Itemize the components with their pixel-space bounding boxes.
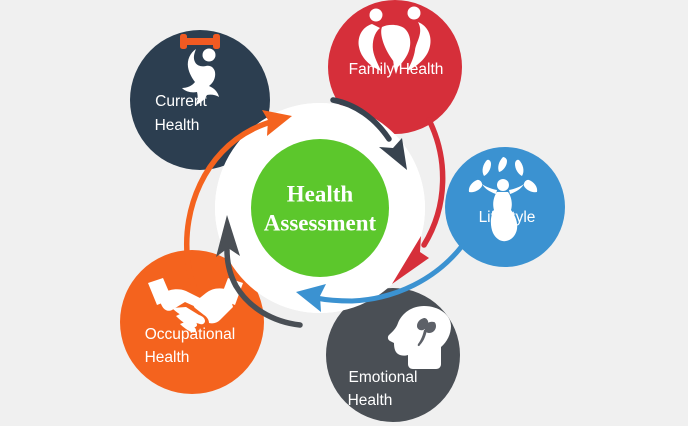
node-occupational-health-label-line1: Occupational (145, 326, 235, 343)
node-emotional-health-label-line2: Health (348, 392, 393, 409)
node-emotional-health-label-line1: Emotional (349, 369, 418, 386)
center-hub-label-line1: Health (287, 181, 354, 206)
node-occupational-health-label-line2: Health (145, 349, 190, 366)
node-family-health-label-line1: Family Health (349, 61, 444, 78)
diagram-canvas: Current Health Family Health (0, 0, 688, 426)
center-hub[interactable]: Health Assessment (251, 139, 389, 277)
node-current-health-label-line1: Current (155, 93, 207, 110)
node-lifestyle[interactable]: Lifestyle (445, 147, 565, 267)
center-hub-label-line2: Assessment (264, 210, 377, 235)
node-current-health-label-line2: Health (155, 117, 200, 134)
center-hub-circle (251, 139, 389, 277)
health-assessment-cycle-diagram: Current Health Family Health (0, 0, 688, 426)
node-lifestyle-label-line1: Lifestyle (479, 209, 536, 226)
